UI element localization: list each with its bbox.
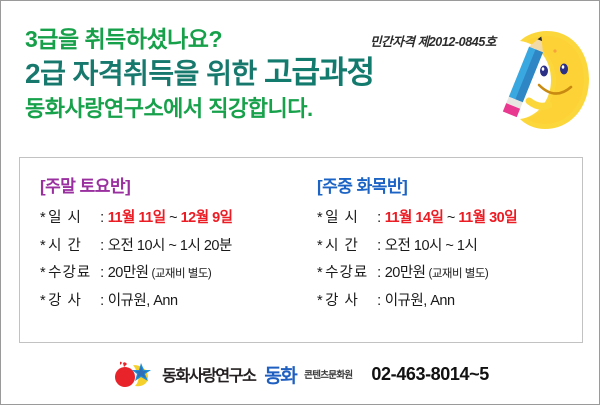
row-value-highlight: 11월 30일: [458, 210, 517, 226]
row-label: 수강료: [325, 266, 377, 281]
schedule-row: *일 시:11월 14일 ~ 11월 30일: [317, 211, 582, 226]
course-promo-banner: 3급을 취득하셨나요? 2급 자격취득을 위한 고급과정 동화사랑연구소에서 직…: [0, 0, 600, 405]
footer-inner: 동화사랑연구소 동화 콘텐츠문화원 02-463-8014~5: [111, 361, 489, 388]
row-value-part: ~: [443, 210, 458, 226]
row-bullet: *: [317, 294, 322, 309]
phone-number: 02-463-8014~5: [371, 364, 488, 385]
row-note: (교재비 별도): [152, 269, 212, 281]
row-note: (교재비 별도): [429, 269, 489, 281]
brand-subtitle: 콘텐츠문화원: [304, 367, 352, 381]
row-label: 일 시: [325, 211, 377, 226]
row-value: 20만원: [385, 266, 426, 281]
headline-main-prefix: 2급 자격취득을 위한: [25, 58, 257, 89]
banner-header: 3급을 취득하셨나요? 2급 자격취득을 위한 고급과정 동화사랑연구소에서 직…: [1, 1, 599, 146]
rows-weekday: *일 시:11월 14일 ~ 11월 30일*시 간:오전 10시 ~ 1시*수…: [317, 211, 582, 308]
row-value: 11월 14일 ~ 11월 30일: [385, 211, 517, 226]
row-value: 오전 10시 ~ 1시 20분: [108, 239, 232, 254]
row-label: 강 사: [48, 294, 100, 309]
headline-main: 2급 자격취득을 위한 고급과정: [25, 54, 495, 93]
rows-weekend: *일 시:11월 11일 ~ 12월 9일*시 간:오전 10시 ~ 1시 20…: [40, 211, 301, 308]
row-label: 일 시: [48, 211, 100, 226]
row-colon: :: [100, 266, 104, 281]
row-colon: :: [377, 294, 381, 309]
row-colon: :: [100, 211, 104, 226]
row-value-part: 20만원: [385, 265, 426, 281]
row-value-highlight: 12월 9일: [181, 210, 233, 226]
schedule-row: *시 간:오전 10시 ~ 1시 20분: [40, 239, 301, 254]
row-bullet: *: [40, 266, 45, 281]
headline-institute: 동화사랑연구소에서 직강합니다.: [25, 96, 495, 122]
row-value-part: 오전 10시 ~ 1시 20분: [108, 238, 232, 254]
row-bullet: *: [317, 211, 322, 226]
banner-footer: 동화사랑연구소 동화 콘텐츠문화원 02-463-8014~5: [1, 344, 599, 404]
row-colon: :: [100, 294, 104, 309]
row-label: 시 간: [48, 239, 100, 254]
crescent-moon-mascot-with-pencil: [489, 27, 593, 135]
institute-name: 동화사랑연구소: [162, 362, 255, 386]
row-value-part: 20만원: [108, 265, 149, 281]
row-colon: :: [377, 239, 381, 254]
schedule-row: *수강료:20만원(교재비 별도): [317, 266, 582, 281]
row-value-part: 오전 10시 ~ 1시: [385, 238, 478, 254]
row-value-part: 이규원, Ann: [385, 293, 455, 309]
row-colon: :: [377, 211, 381, 226]
class-column-weekend: [주말 토요반] *일 시:11월 11일 ~ 12월 9일*시 간:오전 10…: [20, 158, 301, 342]
row-value: 오전 10시 ~ 1시: [385, 239, 478, 254]
row-value: 11월 11일 ~ 12월 9일: [108, 211, 233, 226]
row-bullet: *: [40, 239, 45, 254]
column-title-weekday: [주중 화목반]: [317, 172, 582, 197]
row-bullet: *: [40, 294, 45, 309]
row-bullet: *: [317, 239, 322, 254]
row-value-part: 이규원, Ann: [108, 293, 178, 309]
row-colon: :: [100, 239, 104, 254]
schedule-box: [주말 토요반] *일 시:11월 11일 ~ 12월 9일*시 간:오전 10…: [19, 157, 583, 343]
schedule-row: *일 시:11월 11일 ~ 12월 9일: [40, 211, 301, 226]
schedule-row: *강 사:이규원, Ann: [40, 294, 301, 309]
row-label: 강 사: [325, 294, 377, 309]
headline-course-name: 고급과정: [264, 55, 374, 90]
schedule-row: *강 사:이규원, Ann: [317, 294, 582, 309]
row-bullet: *: [317, 266, 322, 281]
row-colon: :: [377, 266, 381, 281]
class-column-weekday: [주중 화목반] *일 시:11월 14일 ~ 11월 30일*시 간:오전 1…: [301, 158, 582, 342]
row-label: 시 간: [325, 239, 377, 254]
row-label: 수강료: [48, 266, 100, 281]
row-value: 이규원, Ann: [385, 294, 455, 309]
column-title-weekend: [주말 토요반]: [40, 172, 301, 197]
row-value-highlight: 11월 14일: [385, 210, 444, 226]
apple-moon-star-logo: [111, 361, 155, 388]
schedule-row: *수강료:20만원(교재비 별도): [40, 266, 301, 281]
row-value: 20만원: [108, 266, 149, 281]
brand-mark: 동화: [264, 361, 296, 388]
certification-number: 민간자격 제2012-0845호: [370, 31, 496, 50]
schedule-row: *시 간:오전 10시 ~ 1시: [317, 239, 582, 254]
row-value-highlight: 11월 11일: [108, 210, 166, 226]
row-bullet: *: [40, 211, 45, 226]
row-value: 이규원, Ann: [108, 294, 178, 309]
row-value-part: ~: [166, 210, 181, 226]
